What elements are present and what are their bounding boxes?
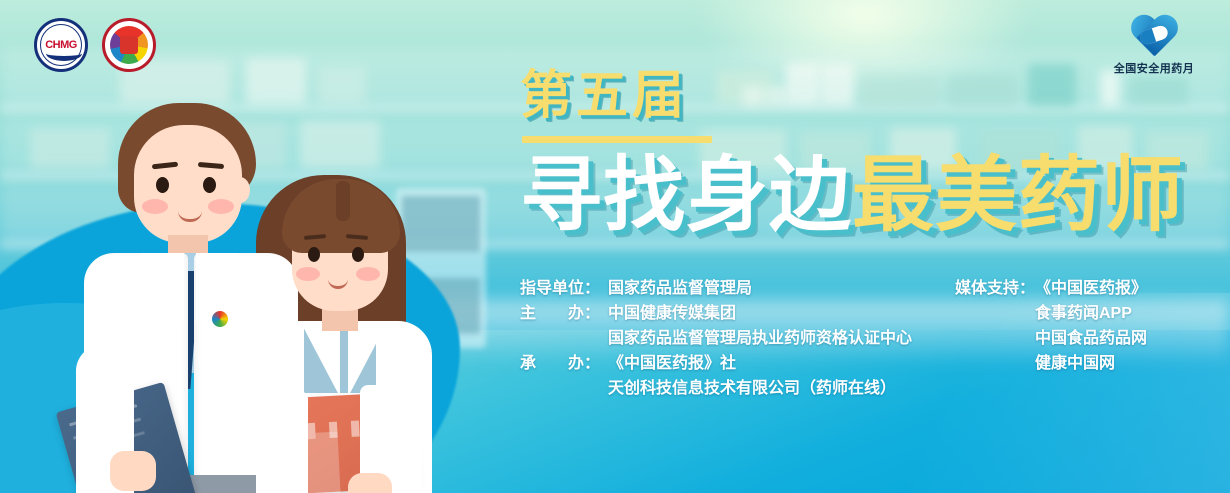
female-blush-left xyxy=(296,267,320,281)
male-eye-right xyxy=(203,177,216,193)
male-pin-badge xyxy=(210,309,230,329)
credit-values: 《中国医药报》社 天创科技信息技术有限公司（药师在线） xyxy=(608,351,896,401)
credit-values: 中国健康传媒集团 国家药品监督管理局执业药师资格认证中心 xyxy=(608,301,912,351)
media-values: 《中国医药报》 xyxy=(1035,276,1147,301)
media-row: 媒体支持： 《中国医药报》 xyxy=(955,276,1147,301)
edition-kicker: 第五届 xyxy=(520,70,1184,122)
male-hand xyxy=(110,451,156,491)
female-blush-right xyxy=(356,267,380,281)
male-face xyxy=(134,125,242,243)
female-eye-right xyxy=(352,247,364,262)
kicker-underline xyxy=(522,136,712,143)
male-blush-left xyxy=(142,199,168,214)
female-hand xyxy=(348,473,392,493)
credit-value: 《中国医药报》社 xyxy=(608,351,896,376)
chmg-logo: CHMG xyxy=(34,18,88,72)
female-eye-left xyxy=(308,247,320,262)
headline-part-white: 寻找身边 xyxy=(520,150,852,241)
credit-value: 天创科技信息技术有限公司（药师在线） xyxy=(608,376,896,401)
male-ear xyxy=(230,177,250,203)
credit-label: 主 办： xyxy=(520,301,608,351)
badge-label: 全国安全用药月 xyxy=(1106,60,1202,76)
heart-capsule-icon xyxy=(1129,16,1179,60)
media-value: 健康中国网 xyxy=(955,351,1147,376)
male-blush-right xyxy=(208,199,234,214)
credit-label: 承 办： xyxy=(520,351,608,401)
credit-value: 中国健康传媒集团 xyxy=(608,301,912,326)
credit-value: 国家药品监督管理局执业药师资格认证中心 xyxy=(608,326,912,351)
pharmacist-illustration xyxy=(60,95,450,493)
title-block: 第五届 寻找身边最美药师 xyxy=(520,70,1184,238)
media-support-block: 媒体支持： 《中国医药报》 食事药闻APP 中国食品药品网 健康中国网 xyxy=(955,276,1147,376)
media-value: 《中国医药报》 xyxy=(1035,276,1147,301)
media-value: 中国食品药品网 xyxy=(955,326,1147,351)
credit-row: 主 办： 中国健康传媒集团 国家药品监督管理局执业药师资格认证中心 xyxy=(520,301,912,351)
credit-row: 承 办： 《中国医药报》社 天创科技信息技术有限公司（药师在线） xyxy=(520,351,912,401)
credit-values: 国家药品监督管理局 xyxy=(608,276,752,301)
female-arm-left xyxy=(256,391,308,493)
media-value: 食事药闻APP xyxy=(955,301,1147,326)
chmg-logo-mark: CHMG xyxy=(45,40,77,51)
main-headline: 寻找身边最美药师 xyxy=(520,153,1184,238)
female-hair-part xyxy=(336,181,350,221)
media-label: 媒体支持： xyxy=(955,276,1035,301)
pinwheel-logo xyxy=(102,18,156,72)
promo-banner: CHMG 全国安全用药月 xyxy=(0,0,1230,493)
male-eye-left xyxy=(156,177,169,193)
logo-group: CHMG xyxy=(34,18,156,72)
credit-row: 指导单位： 国家药品监督管理局 xyxy=(520,276,912,301)
headline-part-yellow: 最美药师 xyxy=(852,150,1184,241)
organizer-credits: 指导单位： 国家药品监督管理局 主 办： 中国健康传媒集团 国家药品监督管理局执… xyxy=(520,276,912,401)
credit-value: 国家药品监督管理局 xyxy=(608,276,752,301)
safety-medication-month-badge: 全国安全用药月 xyxy=(1106,16,1202,76)
credit-label: 指导单位： xyxy=(520,276,608,301)
